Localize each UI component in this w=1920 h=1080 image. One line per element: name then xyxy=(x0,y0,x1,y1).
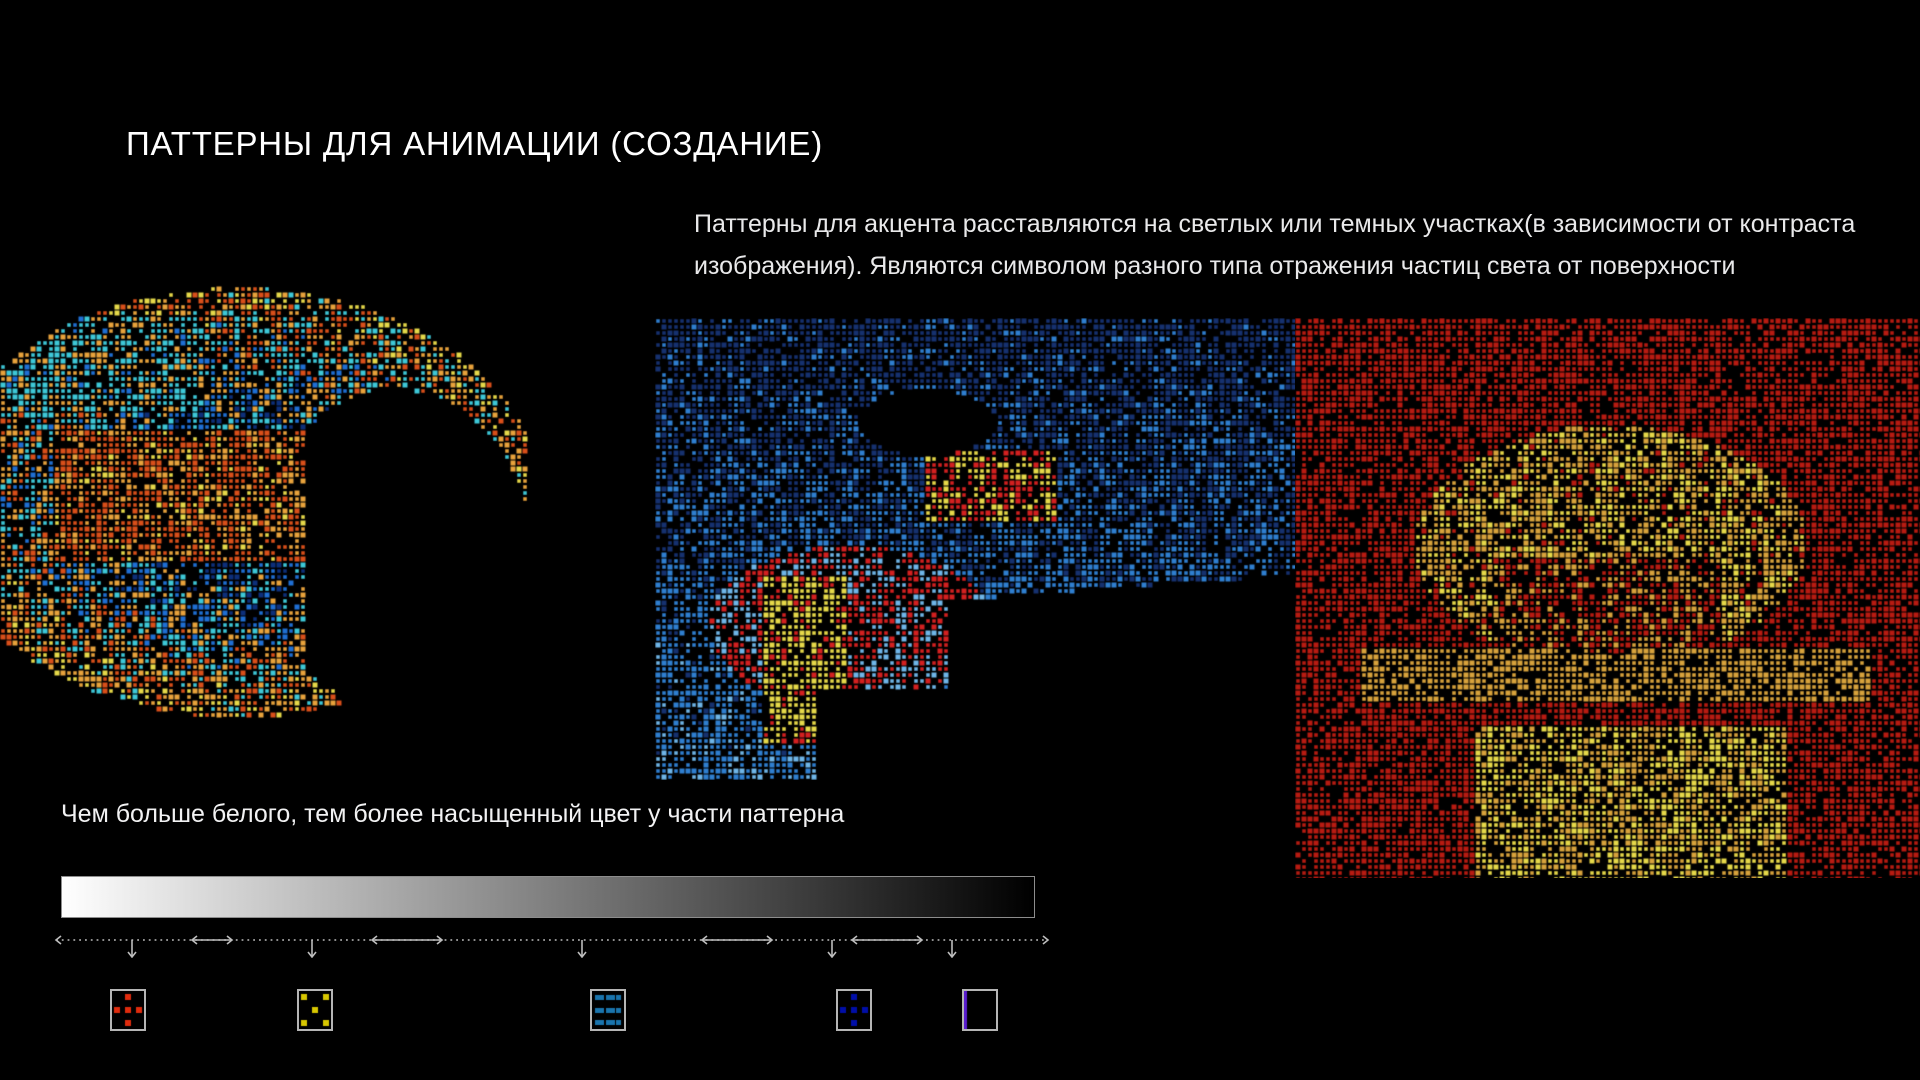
pattern-swatch-darkblue-plus[interactable] xyxy=(836,989,872,1031)
description-paragraph: Паттерны для акцента расставляются на св… xyxy=(694,203,1856,287)
pattern-swatch-red-sparse[interactable] xyxy=(110,989,146,1031)
pattern-swatch-blue-dense[interactable] xyxy=(590,989,626,1031)
scale-ruler xyxy=(52,932,1052,958)
gradient-caption: Чем больше белого, тем более насыщенный … xyxy=(61,800,844,829)
pattern-swatch-yellow-quincunx[interactable] xyxy=(297,989,333,1031)
dither-art-middle xyxy=(655,318,1295,780)
pattern-swatch-violet-stripe[interactable] xyxy=(962,989,998,1031)
dither-art-left xyxy=(0,196,655,780)
dither-art-right xyxy=(1295,318,1920,878)
page-title: ПАТТЕРНЫ ДЛЯ АНИМАЦИИ (СОЗДАНИЕ) xyxy=(126,125,823,163)
brightness-gradient-bar xyxy=(61,876,1035,918)
slide-canvas: ПАТТЕРНЫ ДЛЯ АНИМАЦИИ (СОЗДАНИЕ) Паттерн… xyxy=(0,0,1920,1080)
